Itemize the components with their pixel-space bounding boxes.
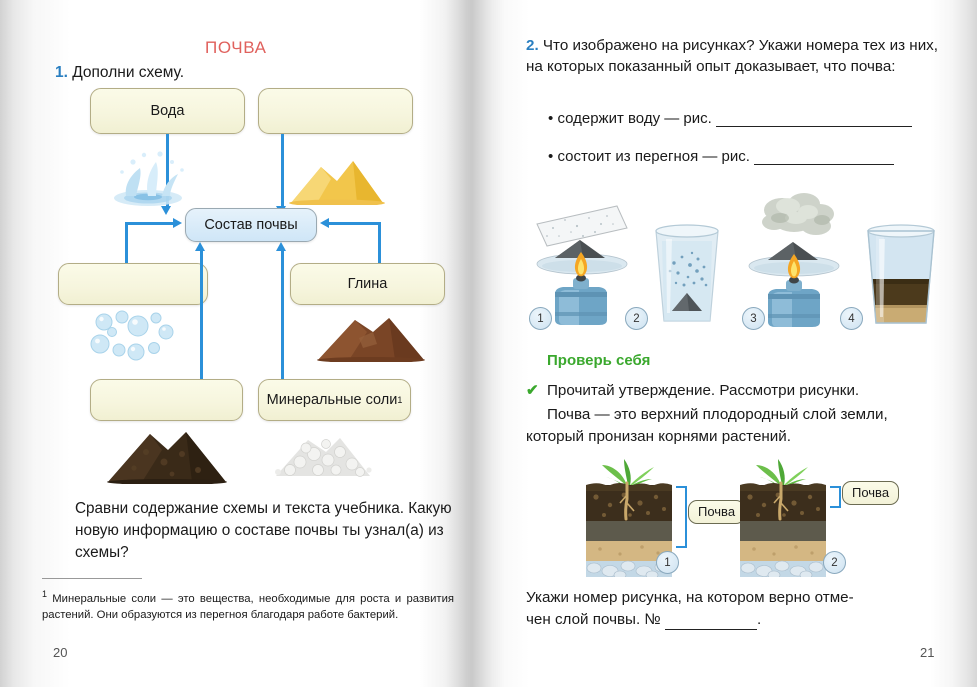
spread-sheet: ПОЧВА 1. Дополни схему. Вода (0, 0, 977, 687)
final-question-line2-post: . (757, 611, 761, 628)
air-bubbles-illustration (88, 308, 180, 366)
soil-profile-1-bracket (676, 486, 687, 548)
scheme-box-humus-blank[interactable] (90, 379, 243, 421)
bullet-text-water: содержит воду — рис. (557, 110, 711, 127)
arrow-salts-head (276, 242, 286, 251)
experiment-number-1-text: 1 (537, 313, 543, 325)
left-page: ПОЧВА 1. Дополни схему. Вода (0, 0, 460, 687)
footnote-marker: 1 (42, 589, 47, 599)
scheme-center-label: Состав почвы (204, 217, 297, 233)
water-splash-illustration (100, 148, 196, 208)
experiment-number-4-text: 4 (848, 313, 854, 325)
scheme-box-salts-sup: 1 (397, 395, 402, 405)
sand-pile-illustration (287, 155, 387, 205)
soil-profile-1-tag: Почва (688, 500, 745, 524)
self-check-instruction: Прочитай утверждение. Рассмотри рисунки. (547, 380, 859, 401)
page-number-right: 21 (920, 645, 934, 660)
arrow-air-horizontal (125, 222, 175, 225)
arrow-clay-vertical (378, 222, 381, 264)
final-question-line1: Укажи номер рисунка, на котором верно от… (526, 587, 854, 608)
answer-blank-humus[interactable] (754, 151, 894, 165)
arrow-air-head (173, 218, 182, 228)
scheme-box-air-blank[interactable] (58, 263, 208, 305)
task-1-prompt: Сравни содержание схемы и текста учебник… (75, 498, 455, 564)
task-1-text: Дополни схему. (72, 64, 184, 81)
page-number-left: 20 (53, 645, 67, 660)
experiment-2-illustration (648, 223, 726, 328)
soil-profile-number-1: 1 (656, 551, 679, 574)
experiment-number-3-text: 3 (750, 313, 756, 325)
arrow-air-vertical (125, 222, 128, 264)
bullet-marker-water: • (548, 110, 553, 127)
soil-profile-2-illustration (740, 455, 826, 577)
bullet-humus: • состоит из перегноя — рис. (548, 148, 894, 165)
experiment-number-3: 3 (742, 307, 765, 330)
experiment-number-2: 2 (625, 307, 648, 330)
task-2-heading: 2. Что изображено на рисунках? Укажи ном… (526, 36, 938, 77)
soil-profile-number-2-text: 2 (831, 557, 837, 569)
arrow-humus-shaft (200, 250, 203, 380)
clay-pile-illustration (315, 310, 427, 362)
experiment-number-1: 1 (529, 307, 552, 330)
arrow-salts-shaft (281, 250, 284, 380)
task-1-heading: 1. Дополни схему. (55, 64, 184, 82)
experiment-4-illustration (860, 223, 942, 331)
arrow-clay-head (320, 218, 329, 228)
bullet-marker-humus: • (548, 148, 553, 165)
page-title: ПОЧВА (205, 38, 267, 58)
scheme-box-clay[interactable]: Глина (290, 263, 445, 305)
right-page: 2. Что изображено на рисунках? Укажи ном… (500, 0, 977, 687)
experiment-number-2-text: 2 (633, 313, 639, 325)
soil-profile-2-bracket (830, 486, 841, 508)
scheme-box-salts-label: Минеральные соли (267, 392, 398, 408)
bullet-water: • содержит воду — рис. (548, 110, 912, 127)
bullet-text-humus: состоит из перегноя — рис. (557, 148, 750, 165)
arrow-humus-head (195, 242, 205, 251)
footnote-rule (42, 578, 142, 579)
soil-profile-number-2: 2 (823, 551, 846, 574)
scheme-box-salts[interactable]: Минеральные соли1 (258, 379, 411, 421)
task-2-text: Что изображено на рисунках? Укажи номера… (526, 37, 938, 75)
mineral-salts-illustration (270, 426, 376, 478)
task-1-number: 1. (55, 64, 68, 81)
scheme-box-water[interactable]: Вода (90, 88, 245, 134)
arrow-sand-shaft (281, 134, 284, 208)
experiment-number-4: 4 (840, 307, 863, 330)
task-2-number: 2. (526, 37, 539, 54)
scheme-box-water-label: Вода (151, 103, 185, 119)
self-check-statement-line2: который пронизан корнями растений. (526, 426, 791, 447)
scheme-center-box[interactable]: Состав почвы (185, 208, 317, 242)
check-icon: ✔ (526, 381, 539, 399)
answer-blank-water[interactable] (716, 113, 912, 127)
footnote: 1 Минеральные соли — это вещества, необх… (42, 586, 454, 624)
arrow-clay-horizontal (329, 222, 380, 225)
scheme-box-sand-blank[interactable] (258, 88, 413, 134)
humus-pile-illustration (106, 424, 228, 484)
scheme-box-clay-label: Глина (348, 276, 388, 292)
footnote-text: Минеральные соли — это вещества, необход… (42, 593, 454, 622)
answer-blank-final[interactable] (665, 616, 757, 630)
final-question-line2-pre: чен слой почвы. № (526, 611, 661, 628)
self-check-statement-line1: Почва — это верхний плодородный слой зем… (547, 404, 888, 425)
self-check-heading: Проверь себя (547, 352, 650, 369)
soil-profile-2-tag: Почва (842, 481, 899, 505)
final-question-line2: чен слой почвы. № . (526, 609, 761, 630)
soil-profile-number-1-text: 1 (664, 557, 670, 569)
